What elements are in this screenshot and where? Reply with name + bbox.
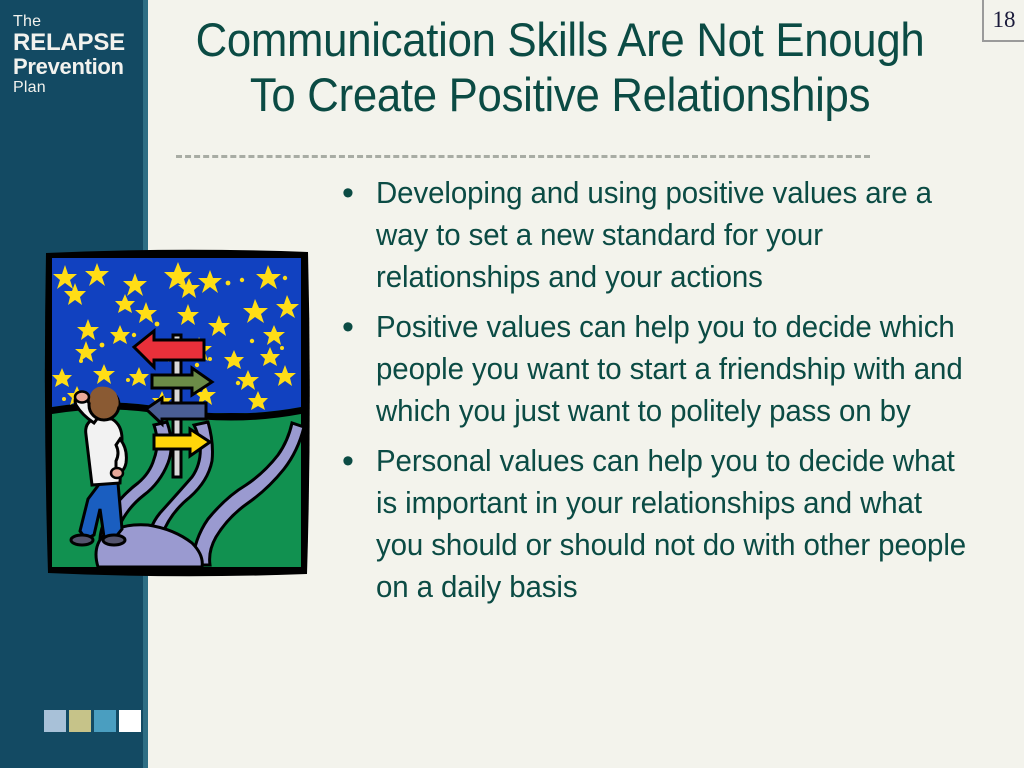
logo-line-plan: Plan — [13, 80, 141, 96]
bullet-dot-icon: • — [336, 172, 376, 214]
swatch-light-blue — [44, 710, 66, 732]
slide: The RELAPSE Prevention Plan 18 Communica… — [0, 0, 1024, 768]
logo-line-relapse: RELAPSE — [13, 31, 141, 55]
bullet-dot-icon: • — [336, 306, 376, 348]
slide-number: 18 — [982, 0, 1024, 42]
page-title: Communication Skills Are Not Enough To C… — [188, 12, 932, 123]
bullet-text: Personal values can help you to decide w… — [376, 440, 976, 608]
list-item: • Personal values can help you to decide… — [336, 440, 1008, 608]
bullet-text: Positive values can help you to decide w… — [376, 306, 976, 432]
logo-line-prevention: Prevention — [13, 56, 141, 78]
title-divider — [176, 155, 870, 158]
swatch-white — [119, 710, 141, 732]
swatch-blue — [94, 710, 116, 732]
crossroads-signpost-illustration — [42, 247, 314, 579]
bullet-list: • Developing and using positive values a… — [336, 172, 1008, 616]
list-item: • Positive values can help you to decide… — [336, 306, 1008, 432]
bullet-text: Developing and using positive values are… — [376, 172, 976, 298]
logo-line-the: The — [13, 14, 141, 30]
swatch-khaki — [69, 710, 91, 732]
list-item: • Developing and using positive values a… — [336, 172, 1008, 298]
bullet-dot-icon: • — [336, 440, 376, 482]
title-line-2: To Create Positive Relationships — [188, 67, 932, 122]
title-line-1: Communication Skills Are Not Enough — [188, 12, 932, 67]
swatch-strip — [44, 710, 141, 732]
brand-logo: The RELAPSE Prevention Plan — [13, 14, 141, 96]
